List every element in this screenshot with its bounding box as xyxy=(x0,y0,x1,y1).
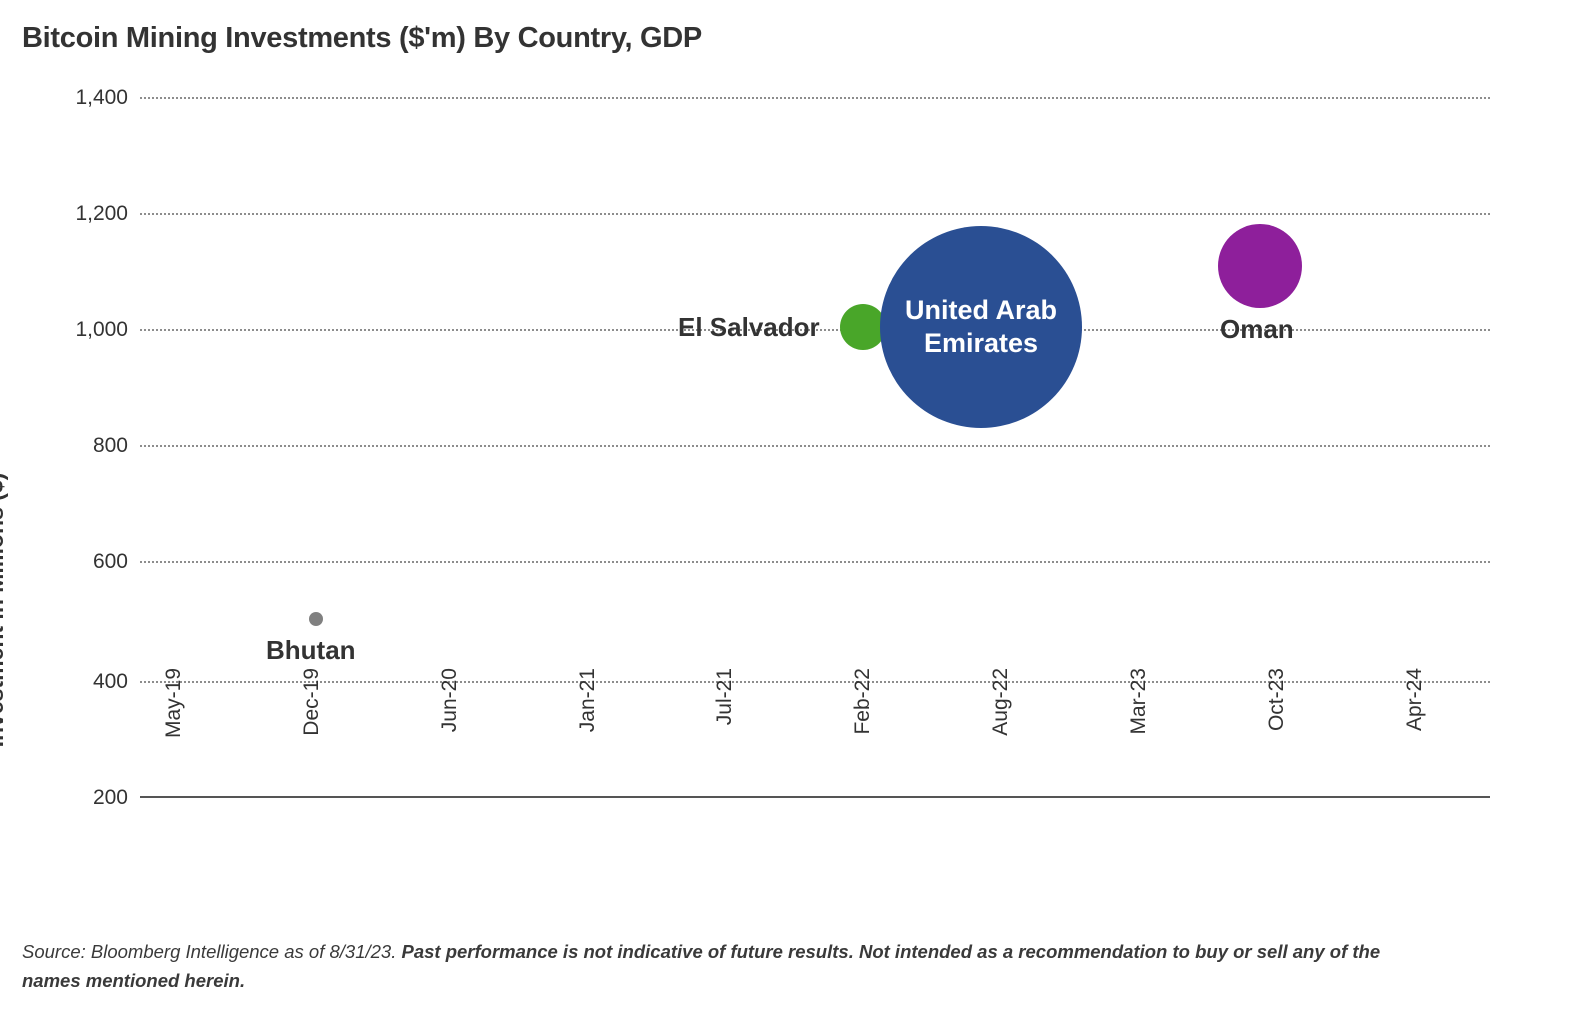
page-title: Bitcoin Mining Investments ($'m) By Coun… xyxy=(22,22,702,55)
footnote-source: Source: Bloomberg Intelligence as of 8/3… xyxy=(22,941,402,962)
x-tick-label: Jan-21 xyxy=(576,668,600,808)
y-tick-label: 1,200 xyxy=(0,202,128,226)
bubble-label-el-salvador: El Salvador xyxy=(678,312,820,343)
x-tick-label: Jun-20 xyxy=(438,668,462,808)
y-tick-label: 1,400 xyxy=(0,86,128,110)
bubble-label-bhutan: Bhutan xyxy=(266,635,356,666)
y-tick-label: 800 xyxy=(0,434,128,458)
x-tick-label: May-19 xyxy=(162,668,186,808)
x-tick-label: Feb-22 xyxy=(851,668,875,808)
bubble-united-arab-emirates[interactable]: United Arab Emirates xyxy=(880,226,1082,428)
gridline-1200 xyxy=(140,213,1490,215)
x-tick-label: Mar-23 xyxy=(1127,668,1151,808)
footnote: Source: Bloomberg Intelligence as of 8/3… xyxy=(22,938,1422,995)
x-tick-label: Dec-19 xyxy=(300,668,324,808)
gridline-600 xyxy=(140,561,1490,563)
gridline-800 xyxy=(140,445,1490,447)
bubble-label-united-arab-emirates: United Arab Emirates xyxy=(880,294,1082,360)
y-tick-label: 1,000 xyxy=(0,318,128,342)
y-axis-title: Investment in Millions ($) xyxy=(0,430,9,790)
bubble-oman[interactable] xyxy=(1218,224,1302,308)
bubble-label-oman: Oman xyxy=(1220,314,1294,345)
x-tick-label: Aug-22 xyxy=(989,668,1013,808)
y-tick-label: 200 xyxy=(0,786,128,810)
y-tick-label: 400 xyxy=(0,670,128,694)
gridline-1400 xyxy=(140,97,1490,99)
bubble-bhutan[interactable] xyxy=(309,612,323,626)
x-tick-label: Jul-21 xyxy=(713,668,737,808)
x-tick-label: Oct-23 xyxy=(1265,668,1289,808)
x-tick-label: Apr-24 xyxy=(1403,668,1427,808)
y-tick-label: 600 xyxy=(0,550,128,574)
